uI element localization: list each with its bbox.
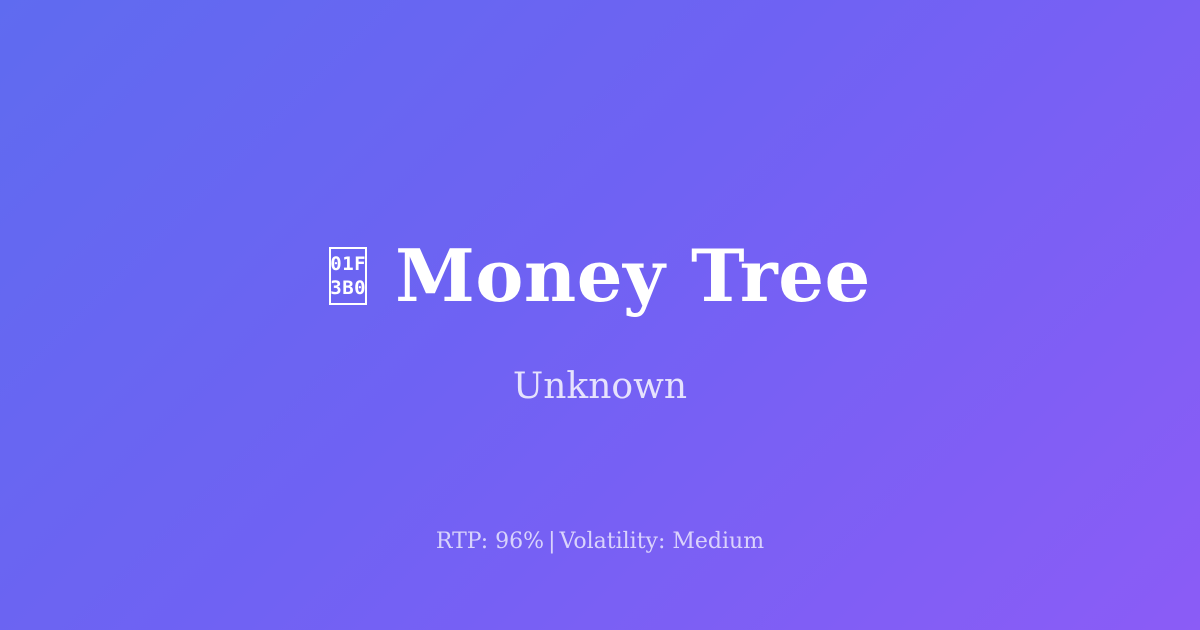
slot-machine-emoji-icon: 01F 3B0 — [329, 247, 367, 305]
page-title: Money Tree — [395, 240, 871, 312]
rtp-stat: RTP: 96% — [436, 529, 544, 554]
game-stats-line: RTP: 96%|Volatility: Medium — [0, 528, 1200, 556]
title-row: 01F 3B0 Money Tree — [0, 232, 1200, 320]
provider-subtitle: Unknown — [0, 366, 1200, 408]
volatility-stat: Volatility: Medium — [560, 529, 765, 554]
tofu-codepoint-lower: 3B0 — [330, 276, 366, 300]
game-info-card: 01F 3B0 Money Tree Unknown RTP: 96%|Vola… — [0, 0, 1200, 630]
stat-separator: | — [544, 529, 559, 554]
tofu-codepoint-upper: 01F — [330, 252, 366, 276]
